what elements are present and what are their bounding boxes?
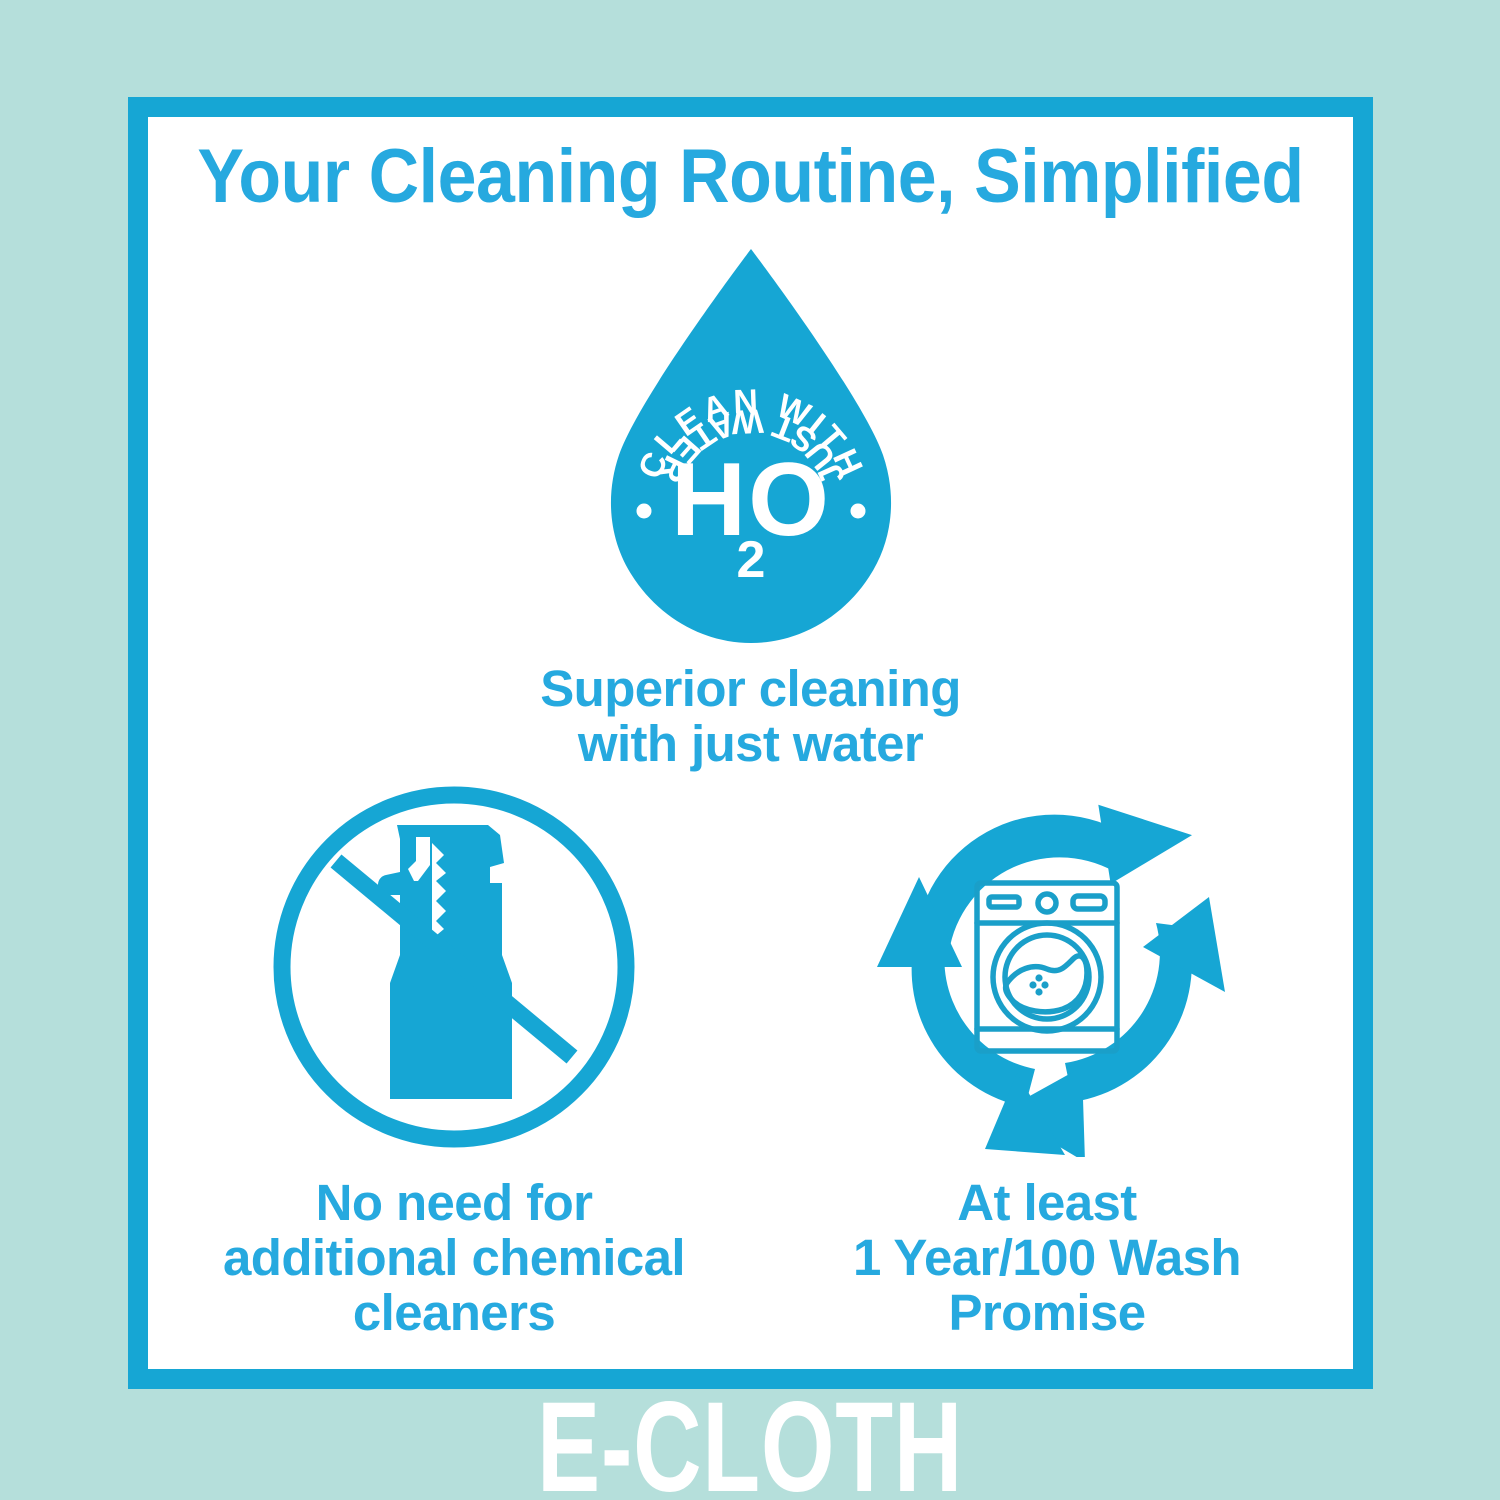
feature-wash-promise: At least 1 Year/100 Wash Promise xyxy=(767,777,1327,1340)
feature-no-chemicals: No need for additional chemical cleaners xyxy=(174,777,734,1340)
feature-row: No need for additional chemical cleaners xyxy=(148,777,1353,1340)
feature-superior-cleaning: CLEAN WITH JUST WATER HO 2 Superior clea… xyxy=(148,247,1353,771)
feature-caption: Superior cleaning with just water xyxy=(540,661,961,771)
washing-machine-recycle-icon xyxy=(857,777,1237,1157)
feature-caption: No need for additional chemical cleaners xyxy=(223,1175,685,1340)
framed-content-panel: Your Cleaning Routine, Simplified CLEAN xyxy=(128,97,1373,1389)
infographic-canvas: Your Cleaning Routine, Simplified CLEAN xyxy=(0,0,1500,1500)
svg-text:2: 2 xyxy=(736,531,765,589)
water-drop-icon: CLEAN WITH JUST WATER HO 2 xyxy=(601,247,901,655)
brand-logo: E-CLOTH xyxy=(195,1399,1305,1496)
feature-caption: At least 1 Year/100 Wash Promise xyxy=(853,1175,1241,1340)
page-title: Your Cleaning Routine, Simplified xyxy=(196,139,1305,215)
no-spray-bottle-icon xyxy=(264,777,644,1157)
